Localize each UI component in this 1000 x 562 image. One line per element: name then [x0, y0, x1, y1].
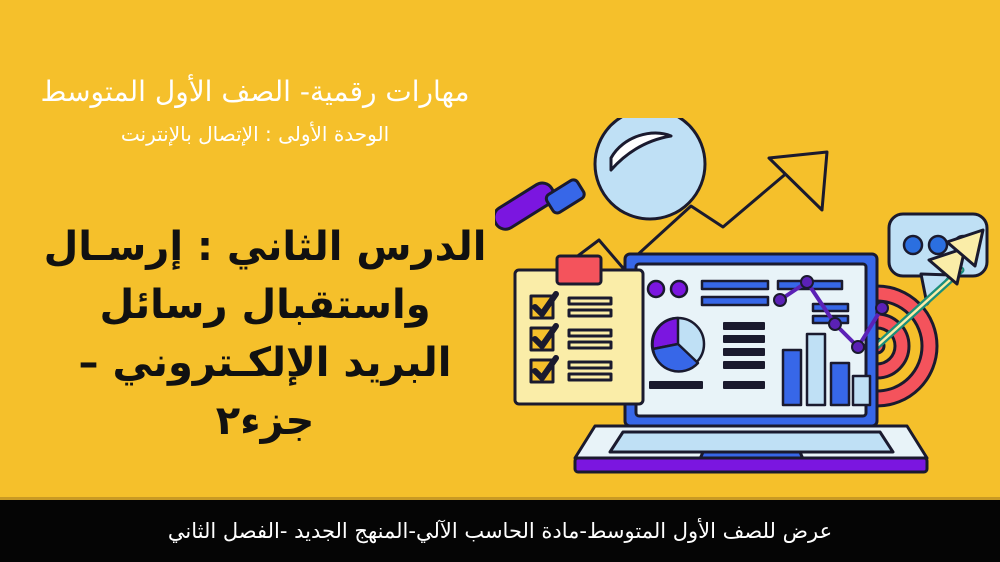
magnifier-icon — [495, 118, 705, 233]
slide-canvas: مهارات رقمية- الصف الأول المتوسط الوحدة … — [0, 0, 1000, 562]
clipboard-checklist-icon — [515, 256, 643, 404]
data-analytics-illustration — [495, 118, 1000, 493]
footer-text: عرض للصف الأول المتوسط-مادة الحاسب الآلي… — [168, 519, 832, 543]
page-title: الدرس الثاني : إرسـال واستقبال رسائل الب… — [40, 218, 490, 450]
footer-bar: عرض للصف الأول المتوسط-مادة الحاسب الآلي… — [0, 497, 1000, 562]
text-column: مهارات رقمية- الصف الأول المتوسط الوحدة … — [0, 0, 520, 500]
unit-header-line: الوحدة الأولى : الإتصال بالإنترنت — [30, 122, 480, 146]
pie-chart — [652, 318, 704, 372]
course-header-line: مهارات رقمية- الصف الأول المتوسط — [30, 76, 480, 108]
